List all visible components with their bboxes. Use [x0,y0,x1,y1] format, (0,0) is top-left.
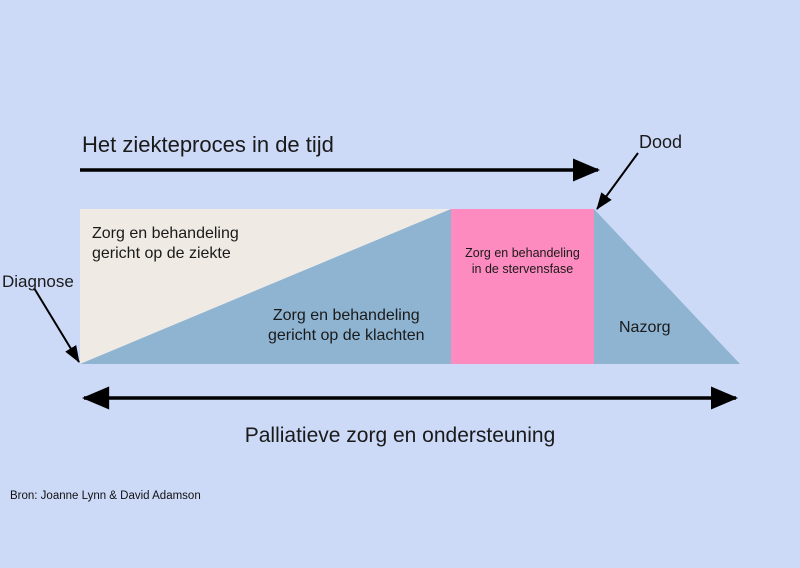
palliative-care-trajectory-diagram [0,0,800,568]
region-label-symptom-care: Zorg en behandeling gericht op de klacht… [268,306,425,347]
source-credit: Bron: Joanne Lynn & David Adamson [10,489,201,504]
annotation-label-dood: Dood [639,131,682,154]
dood-pointer-arrow [597,153,638,209]
terminal-phase-region [451,209,594,364]
region-label-terminal-care: Zorg en behandeling in de stervensfase [451,245,594,277]
diagram-title: Het ziekteproces in de tijd [82,131,334,159]
palliative-care-axis-label: Palliatieve zorg en ondersteuning [0,423,800,450]
diagnose-pointer-arrow [34,288,79,362]
diagram-canvas: Het ziekteproces in de tijd Dood Diagnos… [0,0,800,568]
region-label-aftercare: Nazorg [619,318,671,338]
region-label-curative-care: Zorg en behandeling gericht op de ziekte [92,224,239,265]
aftercare-region [594,209,740,364]
annotation-label-diagnose: Diagnose [2,271,74,293]
